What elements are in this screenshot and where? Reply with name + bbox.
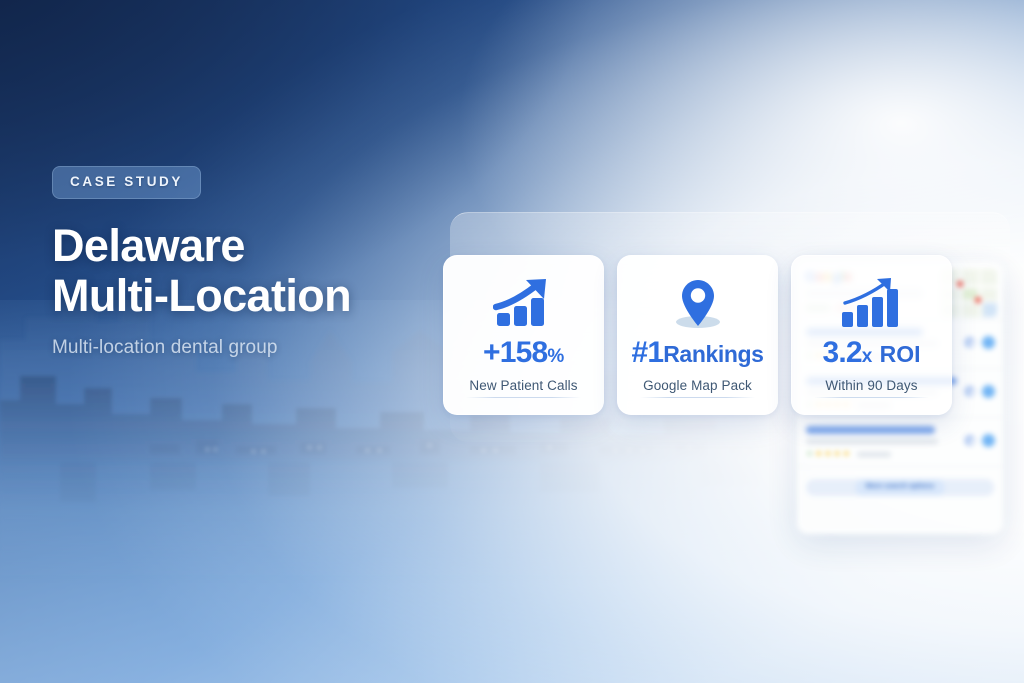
stat-value-unit: % — [547, 346, 564, 367]
page-title-line-1: Delaware — [52, 220, 245, 271]
stat-value-word: ROI — [880, 341, 921, 367]
phone-icon: ✆ — [964, 336, 975, 349]
stat-card-map-pack-rankings[interactable]: #1Rankings Google Map Pack — [617, 255, 778, 415]
stat-card-new-patient-calls[interactable]: +158% New Patient Calls — [443, 255, 604, 415]
hero-text-block: CASE STUDY Delaware Multi-Location Multi… — [52, 166, 482, 359]
stat-value-number: +158 — [483, 336, 547, 369]
page-title: Delaware Multi-Location — [52, 221, 482, 322]
growth-chart-arrow-icon — [493, 274, 555, 332]
stat-value: #1Rankings — [631, 338, 763, 368]
case-study-badge: CASE STUDY — [52, 166, 201, 199]
card-divider — [814, 397, 929, 398]
page-title-line-2: Multi-Location — [52, 271, 482, 321]
phone-icon: ✆ — [964, 385, 975, 398]
mockup-row-actions: ✆ — [964, 434, 995, 447]
bar-chart-arrow-icon — [839, 274, 905, 332]
card-divider — [640, 397, 755, 398]
stat-value: 3.2x ROI — [822, 338, 920, 368]
mockup-listing-row: ★★★★★ ✆ — [797, 418, 1003, 467]
page-subtitle: Multi-location dental group — [52, 337, 482, 359]
stat-value-number: 3.2 — [822, 336, 861, 369]
hero-stage: CASE STUDY Delaware Multi-Location Multi… — [0, 0, 1024, 683]
stat-value-word: Rankings — [663, 341, 763, 367]
mockup-listing-title — [806, 426, 935, 434]
stat-card-roi[interactable]: 3.2x ROI Within 90 Days — [791, 255, 952, 415]
stat-label: Within 90 Days — [825, 378, 917, 393]
map-pin-icon — [667, 274, 729, 332]
more-options-label: More search options — [806, 483, 994, 490]
mockup-rating-stars: ★★★★★ — [806, 450, 995, 458]
stat-value: +158% — [483, 338, 564, 368]
mockup-review-count — [857, 452, 891, 457]
mockup-footer: More search options — [797, 467, 1003, 506]
directions-icon — [982, 385, 995, 398]
directions-icon — [982, 336, 995, 349]
stat-cards-row: +158% New Patient Calls #1Rankings Googl… — [443, 255, 952, 415]
mockup-row-actions: ✆ — [964, 336, 995, 349]
directions-icon — [982, 434, 995, 447]
mockup-listing-subtitle — [806, 439, 938, 444]
card-divider — [466, 397, 581, 398]
stat-value-unit: x — [862, 346, 872, 367]
stat-label: Google Map Pack — [643, 378, 752, 393]
stat-label: New Patient Calls — [469, 378, 577, 393]
more-options-bar[interactable]: More search options — [806, 479, 994, 496]
phone-icon: ✆ — [964, 434, 975, 447]
stat-value-number: #1 — [631, 336, 663, 369]
mockup-row-actions: ✆ — [964, 385, 995, 398]
